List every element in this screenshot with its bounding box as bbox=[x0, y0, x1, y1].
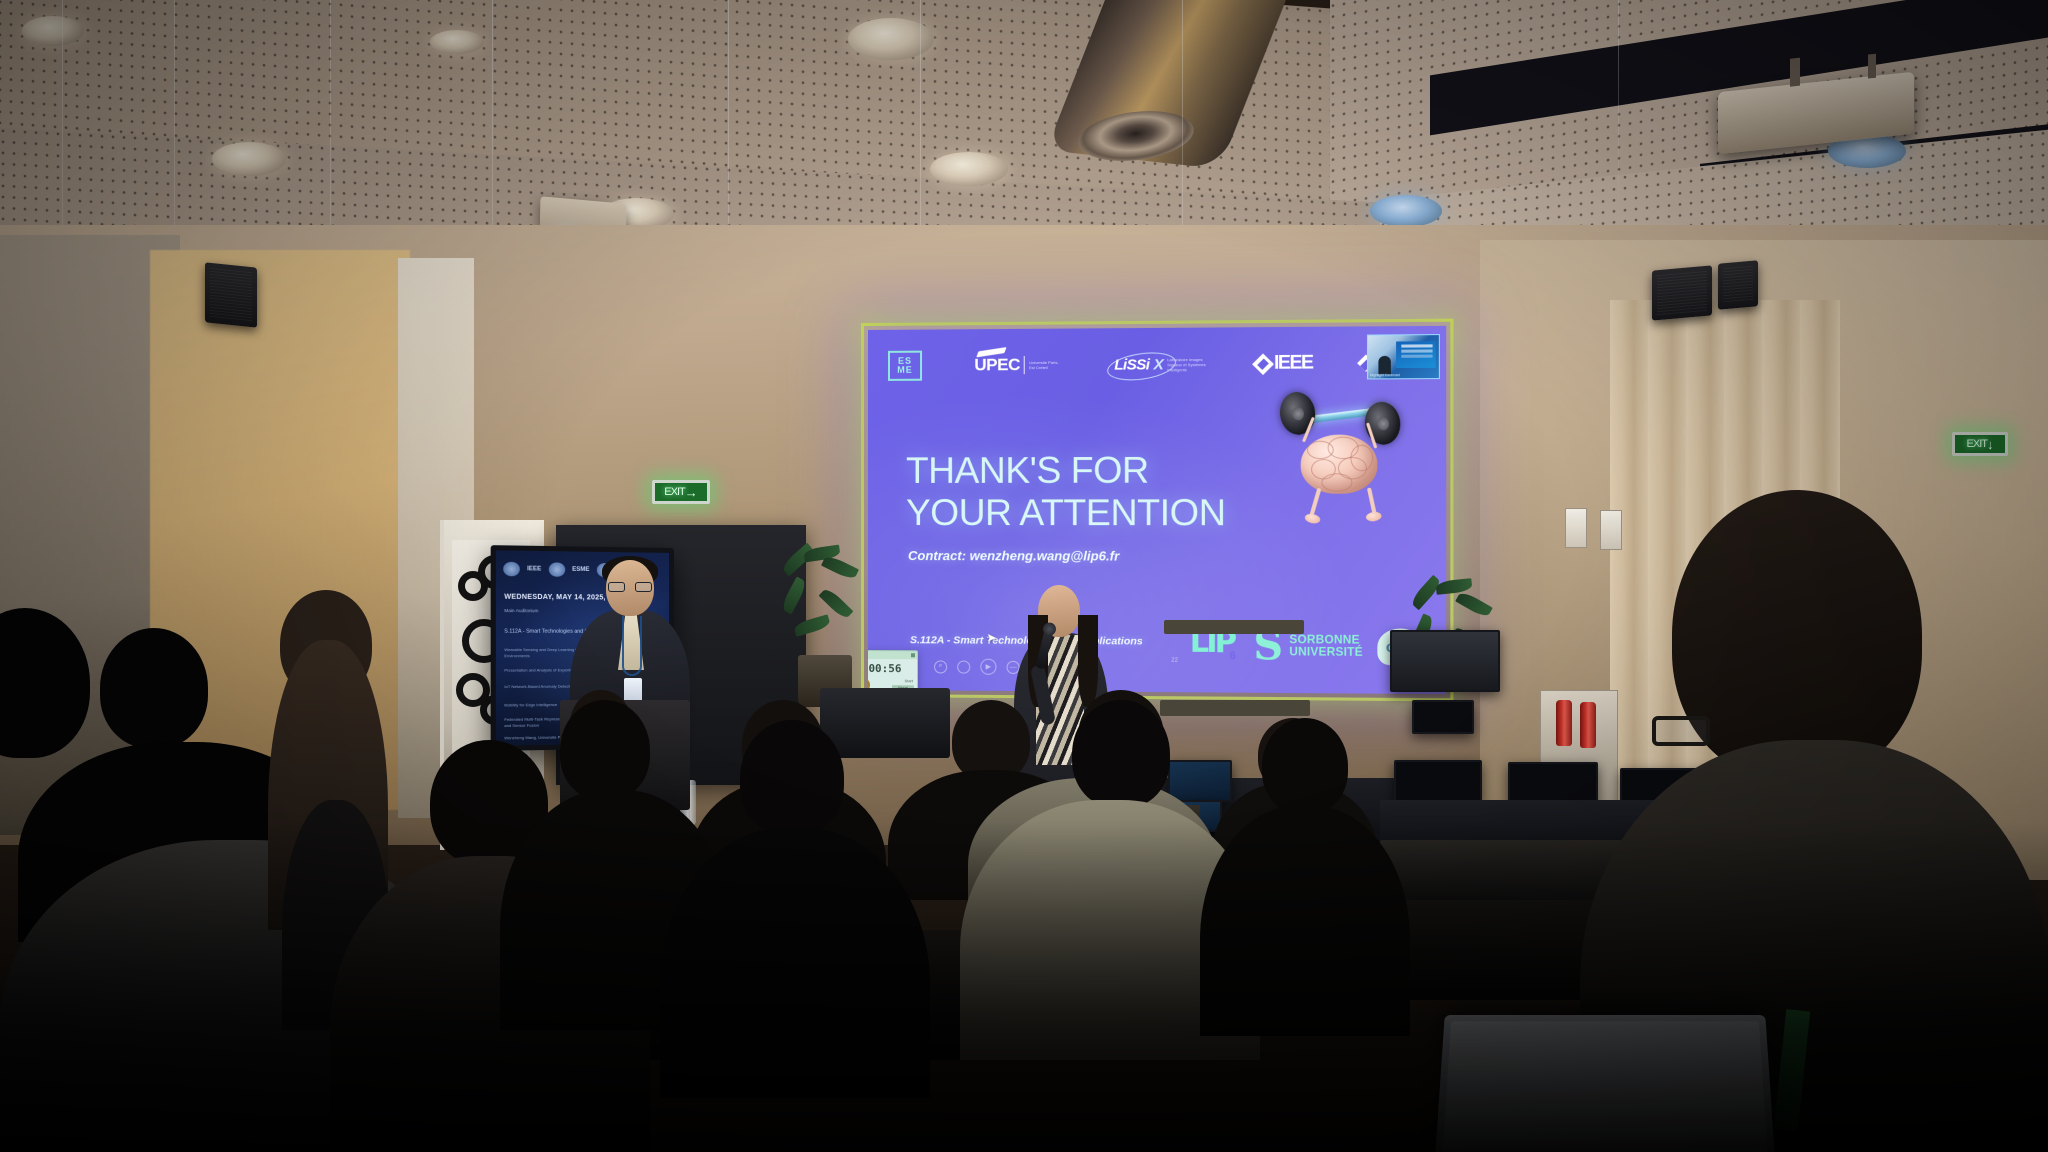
lissi-logo-mark: X bbox=[1154, 356, 1164, 373]
fire-extinguisher-2 bbox=[1580, 702, 1596, 748]
circle-icon[interactable] bbox=[957, 660, 970, 673]
presentation-slide: ES ME UPEC Université Paris-Est Créteil … bbox=[868, 326, 1446, 694]
esme-logo: ES ME bbox=[888, 351, 922, 381]
barbell-plate-left bbox=[1278, 390, 1318, 437]
presenter-left-lanyard bbox=[622, 616, 642, 676]
upec-logo-sub: Université Paris-Est Créteil bbox=[1029, 360, 1063, 370]
audience-body-fg-6 bbox=[1200, 806, 1410, 1036]
exit-sign-left: EXIT → bbox=[652, 480, 710, 504]
av-rack bbox=[820, 688, 950, 758]
video-thumbnail-caption: Highlight Karamani bbox=[1370, 373, 1400, 377]
downlight-blue-1 bbox=[1370, 195, 1442, 227]
foreground-laptop[interactable] bbox=[1435, 1015, 1775, 1152]
downlight-11 bbox=[430, 30, 484, 54]
audience-head-fg-1 bbox=[100, 628, 208, 748]
exit-sign-right-arrow: ↓ bbox=[1987, 437, 1994, 452]
downlight-5 bbox=[930, 152, 1008, 186]
fire-extinguisher bbox=[1556, 700, 1572, 746]
video-thumbnail-person bbox=[1378, 356, 1390, 374]
downlight-1 bbox=[848, 18, 934, 60]
slide-page-number: 22 bbox=[1171, 658, 1178, 664]
slide-title-line2: YOUR ATTENTION bbox=[906, 492, 1226, 535]
lissi-logo: LiSSi X Laboratoire Images Signaux et Sy… bbox=[1114, 355, 1208, 373]
projector-bracket-1 bbox=[1790, 58, 1800, 87]
audience-head-fg-6 bbox=[1262, 718, 1348, 814]
fire-alarm-box-2 bbox=[1600, 510, 1622, 550]
projection-screen: ES ME UPEC Université Paris-Est Créteil … bbox=[868, 326, 1446, 694]
brain-body bbox=[1301, 434, 1378, 493]
timer-start-label: Start bbox=[905, 678, 913, 683]
sorbonne-universite-logo: S SORBONNE UNIVERSITÉ bbox=[1253, 629, 1362, 664]
slide-contact: Contract: wenzheng.wang@lip6.fr bbox=[908, 548, 1119, 563]
wall-speaker-right bbox=[1652, 265, 1712, 320]
lissi-logo-word: LiSSi bbox=[1114, 356, 1149, 373]
video-thumbnail-lines bbox=[1401, 344, 1432, 347]
ieee-logo-word: IEEE bbox=[1274, 352, 1313, 375]
eyeglasses-icon bbox=[1652, 716, 1710, 746]
ieee-logo: IEEE bbox=[1255, 352, 1312, 375]
presenter-right-hair-right bbox=[1078, 615, 1098, 707]
upec-logo-word: UPEC bbox=[974, 355, 1020, 375]
shelf bbox=[1160, 700, 1310, 716]
downlight-2 bbox=[22, 16, 84, 46]
exit-sign-left-glyph: EXIT bbox=[664, 486, 684, 498]
mouse-cursor-icon: ➤ bbox=[986, 631, 996, 645]
audience-body-fg-4 bbox=[660, 828, 930, 1098]
wall-speaker-right-2 bbox=[1718, 260, 1758, 309]
sorbonne-logo-line2: UNIVERSITÉ bbox=[1289, 646, 1363, 659]
brain-foot-right bbox=[1365, 511, 1382, 522]
sorbonne-logo-line1: SORBONNE bbox=[1289, 634, 1363, 647]
downlight-3 bbox=[212, 142, 286, 176]
timer-close-icon[interactable] bbox=[911, 653, 915, 657]
audience-head-fg-5 bbox=[1072, 700, 1170, 808]
exit-sign-right-glyph: EXIT bbox=[1967, 438, 1987, 450]
search-icon[interactable]: ⌕ bbox=[934, 660, 947, 673]
slide-top-logo-row: ES ME UPEC Université Paris-Est Créteil … bbox=[888, 342, 1429, 386]
foreground-laptop-screen bbox=[1442, 1021, 1768, 1152]
audience-head-fg-3 bbox=[560, 700, 650, 800]
upec-logo: UPEC Université Paris-Est Créteil bbox=[974, 355, 1063, 376]
upec-logo-divider bbox=[1024, 356, 1025, 374]
equipment-rack bbox=[1390, 630, 1500, 692]
fire-alarm-box-1 bbox=[1565, 508, 1587, 548]
exit-sign-left-arrow: → bbox=[685, 485, 698, 500]
conference-room-scene: EXIT → EXIT ↓ ES ME UPEC Université Pari… bbox=[0, 0, 2048, 1152]
slide-title-line1: THANK'S FOR bbox=[906, 449, 1226, 492]
equipment-box bbox=[1412, 700, 1474, 734]
audience-head-fg-4 bbox=[740, 720, 844, 836]
side-display-room: Main Auditorium bbox=[504, 608, 538, 613]
projector-bracket-2 bbox=[1868, 54, 1876, 79]
presenter-left-badge bbox=[624, 678, 642, 702]
play-icon[interactable]: ▶ bbox=[980, 659, 996, 675]
glasses-icon bbox=[608, 582, 652, 592]
brain-foot-left bbox=[1304, 513, 1321, 525]
desk-monitor-1 bbox=[1168, 760, 1232, 802]
lip6-logo-sup: 6 bbox=[1230, 650, 1236, 662]
ieee-diamond-icon bbox=[1252, 353, 1274, 375]
esme-logo-line2: ME bbox=[897, 366, 913, 375]
brain-weightlifter-illustration bbox=[1282, 385, 1396, 523]
wall-speaker-left bbox=[205, 262, 257, 327]
desk-monitor-2 bbox=[1394, 760, 1482, 804]
ceiling-wire-8 bbox=[1618, 0, 1619, 200]
shelf-2 bbox=[1164, 620, 1304, 634]
exit-sign-right: EXIT ↓ bbox=[1952, 432, 2008, 456]
sorbonne-logo-mark: S bbox=[1253, 629, 1283, 664]
video-thumbnail[interactable]: Highlight Karamani bbox=[1367, 334, 1440, 379]
slide-title: THANK'S FOR YOUR ATTENTION bbox=[906, 449, 1226, 534]
player-control-bar: ⌕ ▶ — bbox=[934, 658, 1020, 675]
